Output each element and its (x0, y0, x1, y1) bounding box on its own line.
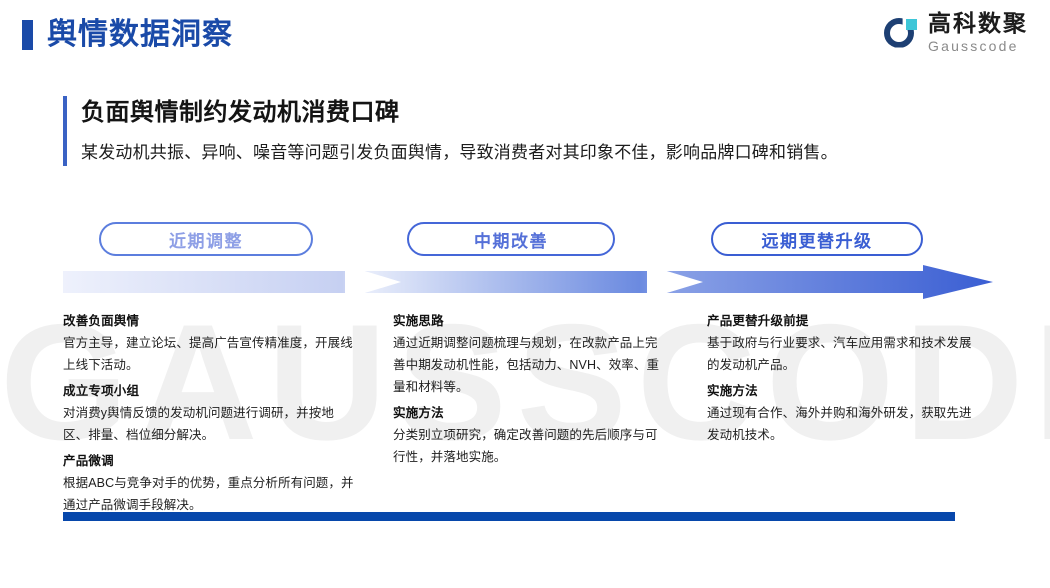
block-heading: 产品微调 (63, 450, 354, 472)
title-block: 负面舆情制约发动机消费口碑 某发动机共振、异响、噪音等问题引发负面舆情，导致消费… (63, 96, 993, 166)
timeline-stage-labels: 近期调整 中期改善 远期更替升级 (63, 222, 993, 258)
block-body: 基于政府与行业要求、汽车应用需求和技术发展的发动机产品。 (707, 332, 980, 376)
logo-name-cn: 高科数聚 (928, 12, 1028, 35)
content-block: 改善负面舆情 官方主导，建立论坛、提高广告宣传精准度，开展线上线下活动。 (63, 310, 354, 376)
block-body: 对消费y舆情反馈的发动机问题进行调研，并按地区、排量、档位细分解决。 (63, 402, 354, 446)
content-block: 产品更替升级前提 基于政府与行业要求、汽车应用需求和技术发展的发动机产品。 (707, 310, 980, 376)
column-near-term: 改善负面舆情 官方主导，建立论坛、提高广告宣传精准度，开展线上线下活动。 成立专… (63, 310, 376, 520)
content-block: 产品微调 根据ABC与竞争对手的优势，重点分析所有问题，并通过产品微调手段解决。 (63, 450, 354, 516)
gausscode-logo-icon (884, 16, 918, 50)
block-heading: 产品更替升级前提 (707, 310, 980, 332)
column-long-term: 产品更替升级前提 基于政府与行业要求、汽车应用需求和技术发展的发动机产品。 实施… (689, 310, 1002, 520)
header-accent-bar (22, 20, 33, 50)
footer-bar (63, 512, 955, 521)
block-heading: 实施方法 (707, 380, 980, 402)
block-heading: 实施思路 (393, 310, 667, 332)
stage-pill-long-term[interactable]: 远期更替升级 (711, 222, 923, 256)
section-subheading: 某发动机共振、异响、噪音等问题引发负面舆情，导致消费者对其印象不佳，影响品牌口碑… (81, 140, 993, 166)
block-body: 根据ABC与竞争对手的优势，重点分析所有问题，并通过产品微调手段解决。 (63, 472, 354, 516)
logo-square-shape (906, 19, 917, 30)
stage-pill-mid-term[interactable]: 中期改善 (407, 222, 615, 256)
logo-name-en: Gausscode (928, 39, 1028, 53)
block-body: 官方主导，建立论坛、提高广告宣传精准度，开展线上线下活动。 (63, 332, 354, 376)
content-block: 实施方法 分类别立项研究，确定改善问题的先后顺序与可行性，并落地实施。 (393, 402, 667, 468)
page-title: 舆情数据洞察 (47, 14, 233, 56)
block-body: 通过现有合作、海外并购和海外研发，获取先进发动机技术。 (707, 402, 980, 446)
content-block: 成立专项小组 对消费y舆情反馈的发动机问题进行调研，并按地区、排量、档位细分解决… (63, 380, 354, 446)
content-columns: 改善负面舆情 官方主导，建立论坛、提高广告宣传精准度，开展线上线下活动。 成立专… (63, 310, 1003, 520)
block-body: 分类别立项研究，确定改善问题的先后顺序与可行性，并落地实施。 (393, 424, 667, 468)
block-heading: 成立专项小组 (63, 380, 354, 402)
block-body: 通过近期调整问题梳理与规划，在改款产品上完善中期发动机性能，包括动力、NVH、效… (393, 332, 667, 398)
section-heading: 负面舆情制约发动机消费口碑 (81, 96, 993, 130)
company-logo: 高科数聚 Gausscode (884, 12, 1028, 53)
block-heading: 实施方法 (393, 402, 667, 424)
column-mid-term: 实施思路 通过近期调整问题梳理与规划，在改款产品上完善中期发动机性能，包括动力、… (376, 310, 689, 520)
content-block: 实施思路 通过近期调整问题梳理与规划，在改款产品上完善中期发动机性能，包括动力、… (393, 310, 667, 398)
block-heading: 改善负面舆情 (63, 310, 354, 332)
page-header: 舆情数据洞察 高科数聚 Gausscode (0, 0, 1050, 72)
content-block: 实施方法 通过现有合作、海外并购和海外研发，获取先进发动机技术。 (707, 380, 980, 446)
timeline-arrow (63, 265, 993, 299)
stage-pill-near-term[interactable]: 近期调整 (99, 222, 313, 256)
logo-text: 高科数聚 Gausscode (928, 12, 1028, 53)
timeline-arrow-graphic (63, 265, 993, 299)
